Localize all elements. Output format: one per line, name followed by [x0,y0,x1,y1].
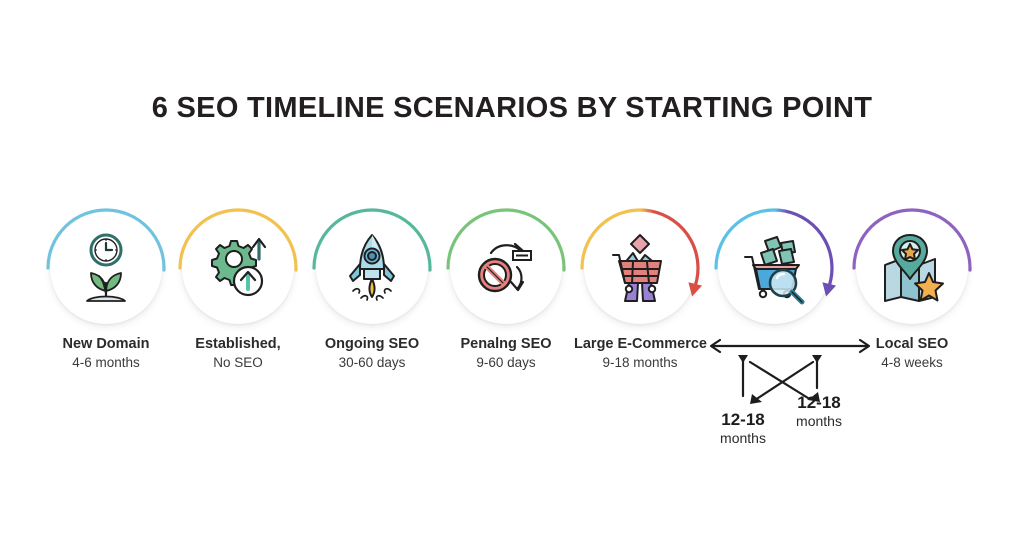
scenario-card[interactable]: Established,No SEO [172,207,304,372]
months-left-unit: months [703,430,783,448]
arc-arrowhead [685,282,702,298]
scenario-title: Penalng SEO [440,335,572,354]
months-right-value: 12-18 [779,392,859,413]
rocket-icon [337,231,407,305]
months-left-value: 12-18 [703,409,783,430]
cart-magnifier-icon [739,231,809,305]
scenario-duration: 30-60 days [306,354,438,372]
months-right-unit: months [779,413,859,431]
scenario-title: Large E-Commerce [574,335,706,354]
page-title: 6 SEO TIMELINE SCENARIOS BY STARTING POI… [0,92,1024,125]
scenario-circle [579,207,701,329]
scenario-card[interactable]: Ongoing SEO30-60 days [306,207,438,372]
scenario-circle [311,207,433,329]
scenario-card[interactable]: Penalng SEO9-60 days [440,207,572,372]
scenario-label: Large E-Commerce9-18 months [574,335,706,372]
scenario-circle [851,207,973,329]
scenario-circle [45,207,167,329]
scenario-label: Penalng SEO9-60 days [440,335,572,372]
scenario-card[interactable] [708,207,840,329]
scenario-circle [177,207,299,329]
shopping-cart-road-icon [605,231,675,305]
scenario-duration: 9-60 days [440,354,572,372]
scenario-duration: No SEO [172,354,304,372]
scenario-circle [445,207,567,329]
scenario-title: Established, [172,335,304,354]
map-pin-star-icon [877,231,947,305]
scenario-title: Ongoing SEO [306,335,438,354]
arc-arrowhead [819,282,836,298]
scenario-title: New Domain [40,335,172,354]
scenario-label: Established,No SEO [172,335,304,372]
clock-plant-icon [71,231,141,305]
scenario-label: Ongoing SEO30-60 days [306,335,438,372]
infographic-canvas: 6 SEO TIMELINE SCENARIOS BY STARTING POI… [0,0,1024,559]
months-label-right: 12-18 months [779,392,859,431]
scenario-card[interactable]: New Domain4-6 months [40,207,172,372]
months-label-left: 12-18 months [703,409,783,448]
scenario-circle [713,207,835,329]
gear-growth-icon [203,231,273,305]
scenario-duration: 9-18 months [574,354,706,372]
scenario-duration: 4-6 months [40,354,172,372]
scenario-label: New Domain4-6 months [40,335,172,372]
penalty-no-entry-icon [471,231,541,305]
scenario-card[interactable]: Large E-Commerce9-18 months [574,207,706,372]
